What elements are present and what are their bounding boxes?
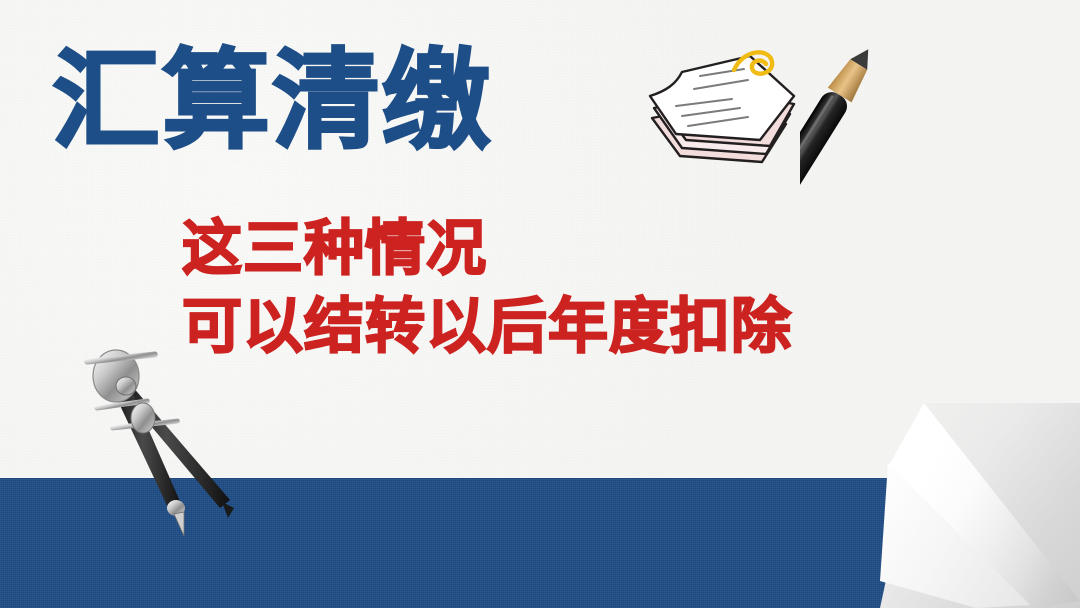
slide-canvas: 汇算清缴 这三种情况 可以结转以后年度扣除 <box>0 0 1080 608</box>
pencil-icon <box>800 40 1040 340</box>
compass-icon <box>70 338 270 538</box>
page-title: 汇算清缴 <box>52 44 492 158</box>
subtitle-line-1: 这三种情况 <box>182 200 487 287</box>
paper-stack-icon <box>636 44 816 169</box>
subtitle-line-2: 可以结转以后年度扣除 <box>182 278 792 365</box>
